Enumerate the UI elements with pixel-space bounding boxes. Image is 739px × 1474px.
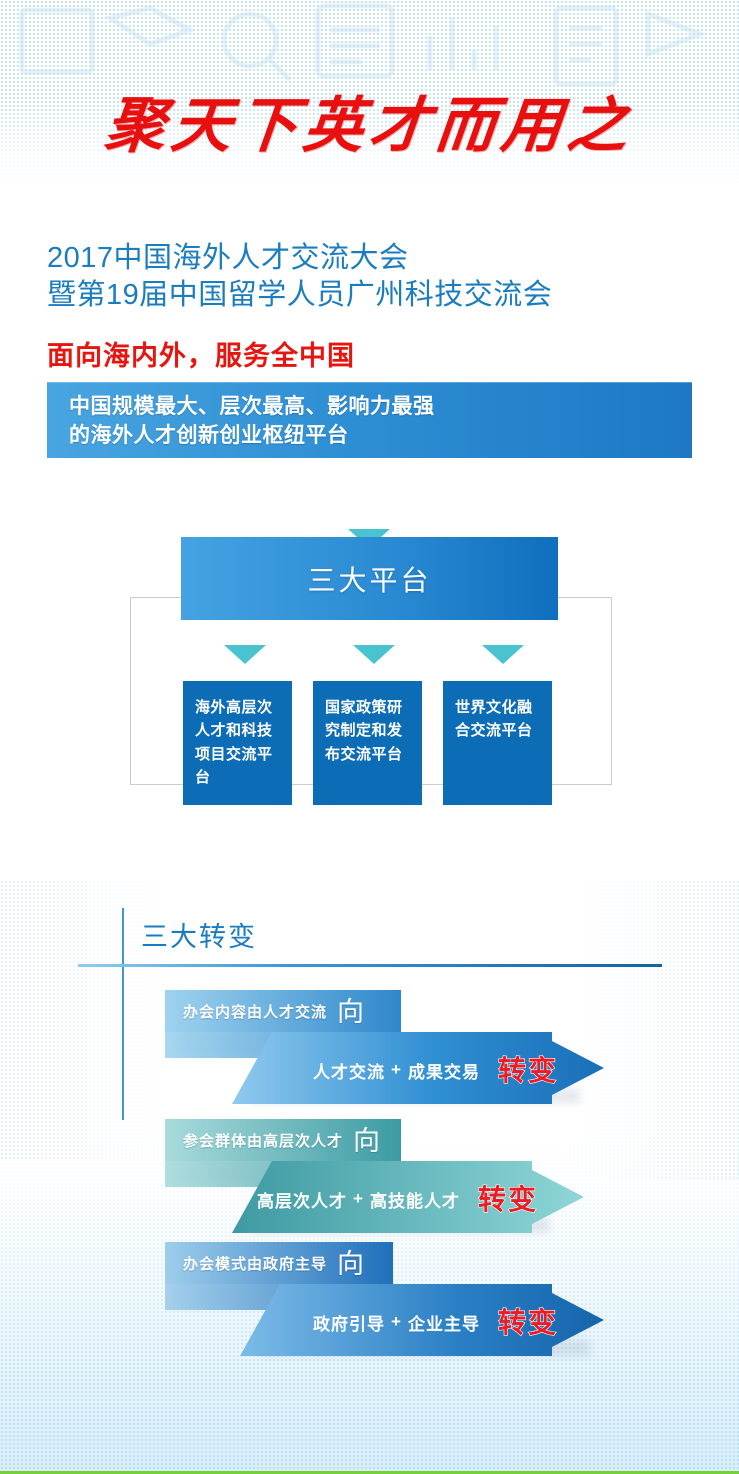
calligraphy-headline: 聚天下英才而用之 [0, 96, 739, 156]
tagline-banner-text: 中国规模最大、层次最高、影响力最强 的海外人才创新创业枢纽平台 [69, 393, 435, 451]
transformation-from-label-3: 办会模式由政府主导 向 [165, 1242, 393, 1284]
xiang-character-3: 向 [337, 1251, 365, 1278]
triangle-down-icon-3 [482, 645, 524, 664]
tagline-banner: 中国规模最大、层次最高、影响力最强 的海外人才创新创业枢纽平台 [47, 382, 692, 458]
transformations-accent-horizontal-rule [78, 964, 662, 967]
halftone-mid-right-background [560, 880, 739, 1180]
xiang-character-2: 向 [353, 1128, 381, 1155]
transformation-to-b-2: 高技能人才 [370, 1187, 460, 1212]
tagline-line2: 的海外人才创新创业枢纽平台 [69, 422, 435, 451]
tagline-line1: 中国规模最大、层次最高、影响力最强 [69, 393, 435, 422]
change-badge-1: 转变 [498, 1057, 558, 1085]
transformation-to-row-1: 人才交流 + 成果交易 转变 [232, 1042, 572, 1098]
transformations-accent-vertical-rule [122, 908, 124, 1120]
event-title-line2: 暨第19届中国留学人员广州科技交流会 [47, 277, 687, 314]
change-badge-2: 转变 [478, 1186, 538, 1214]
platforms-heading-label: 三大平台 [307, 559, 431, 599]
plus-sign-1: + [391, 1060, 402, 1080]
platform-card-1: 海外高层次人才和科技项目交流平台 [183, 681, 292, 805]
transformations-heading: 三大转变 [141, 915, 257, 954]
platform-card-2: 国家政策研究制定和发布交流平台 [313, 681, 422, 805]
change-badge-3: 转变 [498, 1309, 558, 1337]
transformation-to-a-3: 政府引导 [313, 1310, 385, 1335]
plus-sign-2: + [353, 1189, 364, 1209]
xiang-character-1: 向 [337, 999, 365, 1026]
transformation-to-a-1: 人才交流 [313, 1058, 385, 1083]
event-title-line1: 2017中国海外人才交流大会 [47, 242, 409, 274]
transformation-from-text-2: 参会群体由高层次人才 [183, 1130, 343, 1151]
transformation-from-text-1: 办会内容由人才交流 [183, 1001, 327, 1022]
transformation-to-b-1: 成果交易 [408, 1058, 480, 1083]
plus-sign-3: + [391, 1312, 402, 1332]
event-title: 2017中国海外人才交流大会 暨第19届中国留学人员广州科技交流会 [47, 240, 687, 314]
platforms-heading-box: 三大平台 [181, 537, 558, 620]
transformation-from-label-2: 参会群体由高层次人才 向 [165, 1119, 401, 1161]
transformation-to-a-2: 高层次人才 [257, 1187, 347, 1212]
transformation-from-text-3: 办会模式由政府主导 [183, 1253, 327, 1274]
poster-canvas: 聚天下英才而用之 2017中国海外人才交流大会 暨第19届中国留学人员广州科技交… [0, 0, 739, 1474]
transformation-from-label-1: 办会内容由人才交流 向 [165, 990, 401, 1032]
transformation-to-b-3: 企业主导 [408, 1310, 480, 1335]
transformation-to-row-3: 政府引导 + 企业主导 转变 [240, 1294, 572, 1350]
platform-card-3: 世界文化融合交流平台 [443, 681, 552, 805]
triangle-down-icon-1 [224, 645, 266, 664]
slogan-text: 面向海内外，服务全中国 [47, 334, 355, 373]
triangle-down-icon-2 [353, 645, 395, 664]
transformation-to-row-2: 高层次人才 + 高技能人才 转变 [232, 1171, 552, 1227]
